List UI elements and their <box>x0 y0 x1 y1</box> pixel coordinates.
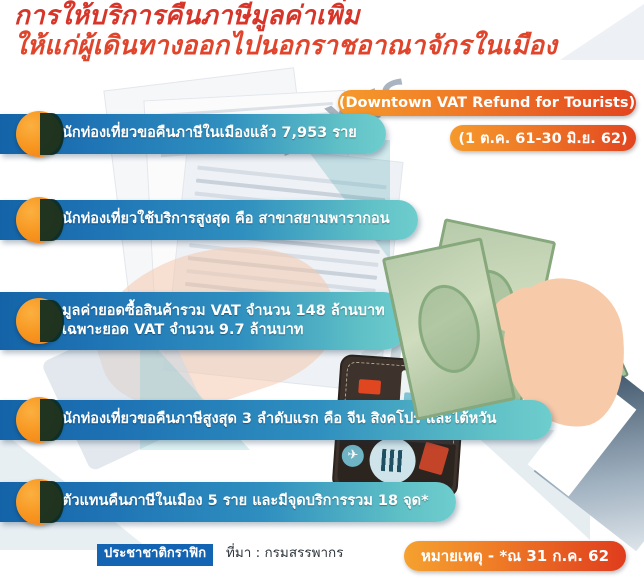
bullet-knob-icon <box>16 397 62 443</box>
banknote-seal-icon <box>411 279 488 379</box>
banknote-icon <box>555 341 629 402</box>
banknote-icon <box>545 358 613 406</box>
shirt-cuff-highlight-icon <box>528 378 637 497</box>
wallet-red-card-icon <box>358 379 381 395</box>
banknote-icon <box>408 218 557 416</box>
bullet-bar-top-nationalities[interactable]: นักท่องเที่ยวขอคืนภาษีสูงสุด 3 ลำดับแรก … <box>0 400 552 440</box>
credit-badge: ประชาชาติกราฟิก <box>97 544 213 566</box>
page-title: การให้บริการคืนภาษีมูลค่าเพิ่ม ให้แก่ผู้… <box>14 2 634 61</box>
paper-sheet-icon <box>163 139 403 392</box>
bullet-text-line-2: เฉพาะยอด VAT จำนวน 9.7 ล้านบาท <box>62 321 385 340</box>
bullet-knob-icon <box>16 298 62 344</box>
page-title-line-1: การให้บริการคืนภาษีมูลค่าเพิ่ม <box>14 2 634 32</box>
airplane-icon: ✈ <box>341 444 364 467</box>
shirt-cuff-icon <box>534 369 644 551</box>
thumb-icon <box>487 281 552 339</box>
grey-shard-icon <box>470 430 590 540</box>
infographic-poster: TAXES ✈ การให้บริการ <box>0 0 644 582</box>
bullet-bar-top-branch[interactable]: นักท่องเที่ยวใช้บริการสูงสุด คือ สาขาสยา… <box>0 200 418 240</box>
bullet-bar-tourists-count[interactable]: นักท่องเที่ยวขอคืนภาษีในเมืองแล้ว 7,953 … <box>0 114 386 154</box>
page-title-line-2: ให้แก่ผู้เดินทางออกไปนอกราชอาณาจักรในเมื… <box>14 32 634 62</box>
bullet-knob-icon <box>16 197 62 243</box>
source-label: ที่มา : กรมสรรพากร <box>226 544 343 563</box>
badge-period: (1 ต.ค. 61-30 มิ.ย. 62) <box>450 125 636 151</box>
bullet-bar-purchase-value[interactable]: มูลค่ายอดซื้อสินค้ารวม VAT จำนวน 148 ล้า… <box>0 292 410 350</box>
bullet-bar-agents-points[interactable]: ตัวแทนคืนภาษีในเมือง 5 ราย และมีจุดบริกา… <box>0 482 456 522</box>
bullet-text: นักท่องเที่ยวขอคืนภาษีสูงสุด 3 ลำดับแรก … <box>0 410 496 429</box>
bullet-knob-icon <box>16 479 62 525</box>
badge-footnote: หมายเหตุ - *ณ 31 ก.ค. 62 <box>404 541 626 571</box>
wallet-tag-icon <box>418 442 449 476</box>
bullet-knob-icon <box>16 111 62 157</box>
bullet-text-line-1: มูลค่ายอดซื้อสินค้ารวม VAT จำนวน 148 ล้า… <box>62 302 385 321</box>
badge-english-title: (Downtown VAT Refund for Tourists) <box>338 90 636 116</box>
bullet-text: ตัวแทนคืนภาษีในเมือง 5 ราย และมีจุดบริกา… <box>0 492 429 511</box>
wallet-badge-icon <box>368 436 417 485</box>
banknote-seal-icon <box>440 263 525 370</box>
